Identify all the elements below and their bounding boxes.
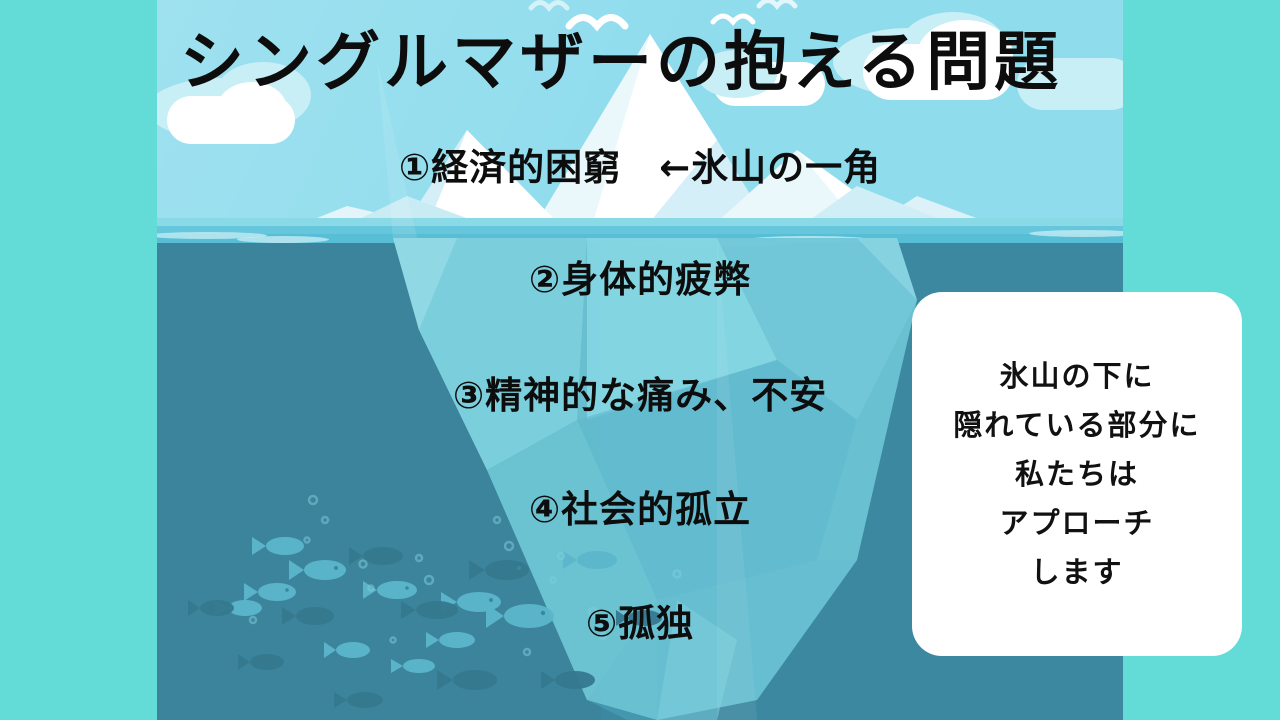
slide-canvas: シングルマザーの抱える問題 ①経済的困窮 ←氷山の一角 ②身体的疲弊 ③精神的な…: [0, 0, 1280, 720]
callout-line: します: [953, 548, 1200, 597]
callout-line: アプローチ: [953, 499, 1200, 548]
list-item: ①経済的困窮 ←氷山の一角: [0, 146, 1280, 190]
callout-line: 氷山の下に: [953, 352, 1200, 401]
page-title: シングルマザーの抱える問題: [180, 26, 1110, 100]
callout-card: 氷山の下に 隠れている部分に 私たちは アプローチ します: [912, 292, 1242, 656]
callout-line: 隠れている部分に: [953, 401, 1200, 450]
callout-line: 私たちは: [953, 450, 1200, 499]
callout-card-text: 氷山の下に 隠れている部分に 私たちは アプローチ します: [953, 352, 1200, 597]
